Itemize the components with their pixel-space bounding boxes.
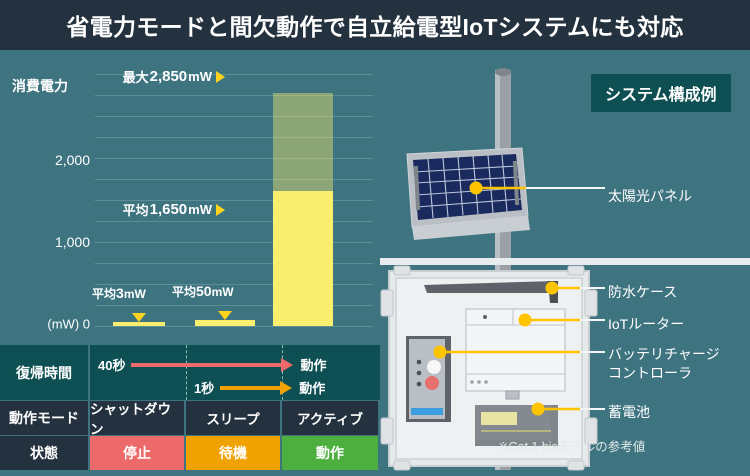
hotspot-bcc — [434, 346, 447, 359]
label-iot-router: IoTルーター — [608, 314, 684, 334]
label-bcc-line1: バッテリチャージ — [608, 345, 720, 364]
callout-average-prefix: 平均 — [123, 200, 149, 219]
mode-shutdown: シャットダウン — [90, 401, 186, 435]
table-row-mode: 動作モード シャットダウン スリープ アクティブ — [0, 401, 380, 435]
mode-comparison-table: 復帰時間 40秒 動作 1秒 動作 動作モード — [0, 345, 380, 476]
chart-axis-title: 消費電力 — [12, 76, 68, 96]
system-diagram: システム構成例 太陽光パネル 防水ケース IoTルーター バッテリチャージ コン… — [380, 50, 750, 476]
callout-shutdown-prefix: 平均 — [92, 287, 116, 301]
label-solar-panel: 太陽光パネル — [608, 186, 692, 206]
arrow-head-icon — [280, 381, 292, 395]
callout-max-unit: mW — [188, 69, 212, 84]
callout-shutdown-value: 3 — [116, 285, 124, 301]
hotspot-router — [519, 314, 532, 327]
power-consumption-chart: 消費電力 2,000 1,000 (mW) 0 — [0, 50, 380, 345]
state-running: 動作 — [282, 436, 378, 470]
row-label-state: 状態 — [0, 436, 90, 470]
page-title: 省電力モードと間欠動作で自立給電型IoTシステムにも対応 — [66, 8, 683, 42]
y-tick-zero: (mW) 0 — [6, 317, 90, 332]
recovery-result-shutdown: 動作 — [300, 355, 326, 374]
solar-panel — [407, 148, 530, 240]
label-bcc-line2: コントローラ — [608, 364, 720, 383]
callout-sleep: 平均50mW — [172, 283, 234, 301]
hotspot-panel — [470, 182, 483, 195]
recovery-result-sleep: 動作 — [299, 378, 325, 397]
hotspot-case — [546, 282, 559, 295]
gridline-baseline — [95, 326, 373, 327]
content-stage: 消費電力 2,000 1,000 (mW) 0 — [0, 50, 750, 476]
table-row-state: 状態 停止 待機 動作 — [0, 436, 380, 470]
bar-active-average — [273, 191, 333, 326]
page-header: 省電力モードと間欠動作で自立給電型IoTシステムにも対応 — [0, 0, 750, 50]
label-storage-battery: 蓄電池 — [608, 402, 650, 422]
row-label-recovery: 復帰時間 — [0, 345, 90, 400]
callout-sleep-prefix: 平均 — [172, 285, 196, 299]
recovery-arrow-sleep: 1秒 動作 — [194, 378, 325, 397]
iot-router — [466, 309, 565, 399]
bar-shutdown — [113, 322, 165, 326]
mode-active: アクティブ — [282, 401, 378, 435]
arrow-head-icon — [281, 358, 293, 372]
recovery-arrow-shutdown: 40秒 動作 — [98, 355, 326, 374]
arrow-shaft — [220, 386, 280, 390]
callout-average-unit: mW — [188, 202, 212, 217]
table-row-recovery: 復帰時間 40秒 動作 1秒 動作 — [0, 345, 380, 400]
callout-max-arrow-icon — [216, 71, 225, 83]
callout-max-prefix: 最大 — [123, 67, 149, 86]
bar-sleep — [195, 320, 255, 326]
state-stopped: 停止 — [90, 436, 186, 470]
label-battery-charge-controller: バッテリチャージ コントローラ — [608, 345, 720, 383]
callout-max-value: 2,850 — [150, 68, 188, 85]
label-waterproof-case: 防水ケース — [608, 282, 677, 302]
arrow-shaft — [131, 363, 281, 367]
ground-rail — [380, 258, 750, 265]
recovery-arrows-cell: 40秒 動作 1秒 動作 — [90, 345, 380, 400]
system-illustration — [380, 50, 750, 476]
marker-sleep-icon — [218, 311, 232, 320]
callout-shutdown: 平均3mW — [92, 285, 146, 303]
footnote: ※Cat.1 bisモデルの参考値 — [498, 436, 645, 455]
callout-average-value: 1,650 — [150, 201, 188, 218]
state-standby: 待機 — [186, 436, 282, 470]
row-label-mode: 動作モード — [0, 401, 90, 435]
marker-shutdown-icon — [132, 313, 146, 322]
mode-sleep: スリープ — [186, 401, 282, 435]
y-tick-1000: 1,000 — [10, 234, 90, 250]
bar-active-peak — [273, 93, 333, 191]
callout-average: 平均 1,650 mW — [123, 200, 225, 219]
callout-shutdown-unit: mW — [124, 287, 146, 301]
callout-average-arrow-icon — [216, 204, 225, 216]
callout-max: 最大 2,850 mW — [123, 67, 225, 86]
callout-sleep-value: 50 — [196, 283, 212, 299]
recovery-time-sleep: 1秒 — [194, 378, 214, 397]
system-example-badge: システム構成例 — [591, 74, 731, 112]
hotspot-battery — [532, 403, 545, 416]
callout-sleep-unit: mW — [212, 285, 234, 299]
recovery-time-shutdown: 40秒 — [98, 355, 125, 374]
y-tick-2000: 2,000 — [10, 152, 90, 168]
